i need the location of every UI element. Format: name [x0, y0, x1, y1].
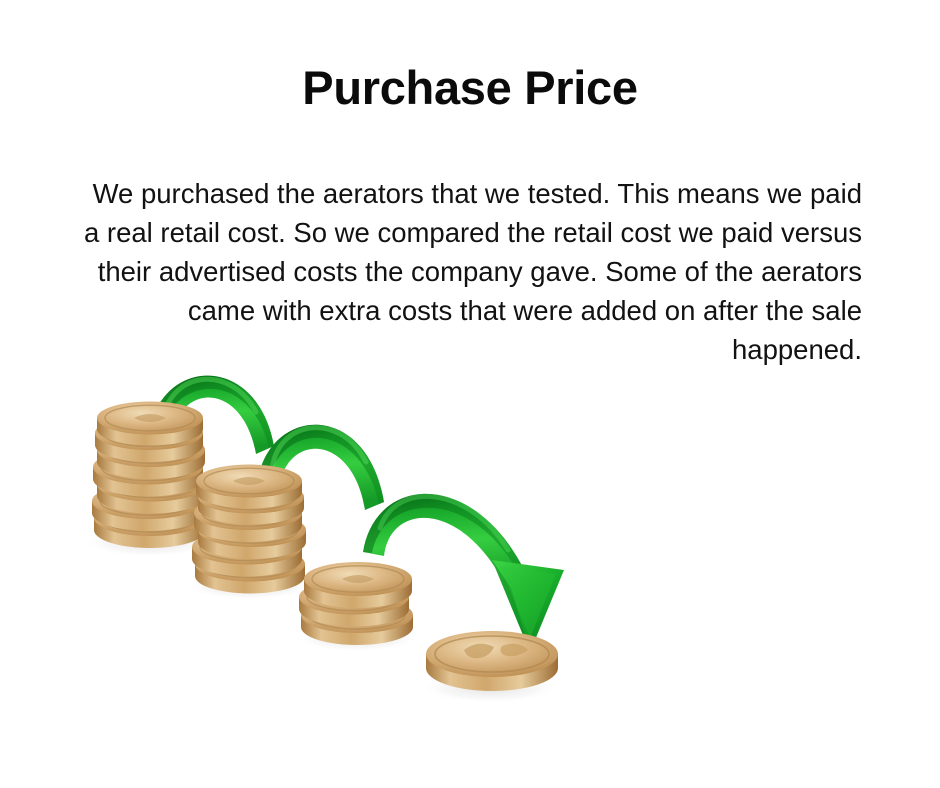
- slide-canvas: Purchase Price We purchased the aerators…: [0, 0, 940, 788]
- coin-stack-3: [299, 562, 413, 645]
- coin-stack-2: [192, 465, 306, 594]
- coin-stacks-illustration: [60, 320, 740, 750]
- single-coin: [426, 631, 558, 691]
- page-title: Purchase Price: [0, 64, 940, 111]
- coin-stack-1: [92, 402, 207, 549]
